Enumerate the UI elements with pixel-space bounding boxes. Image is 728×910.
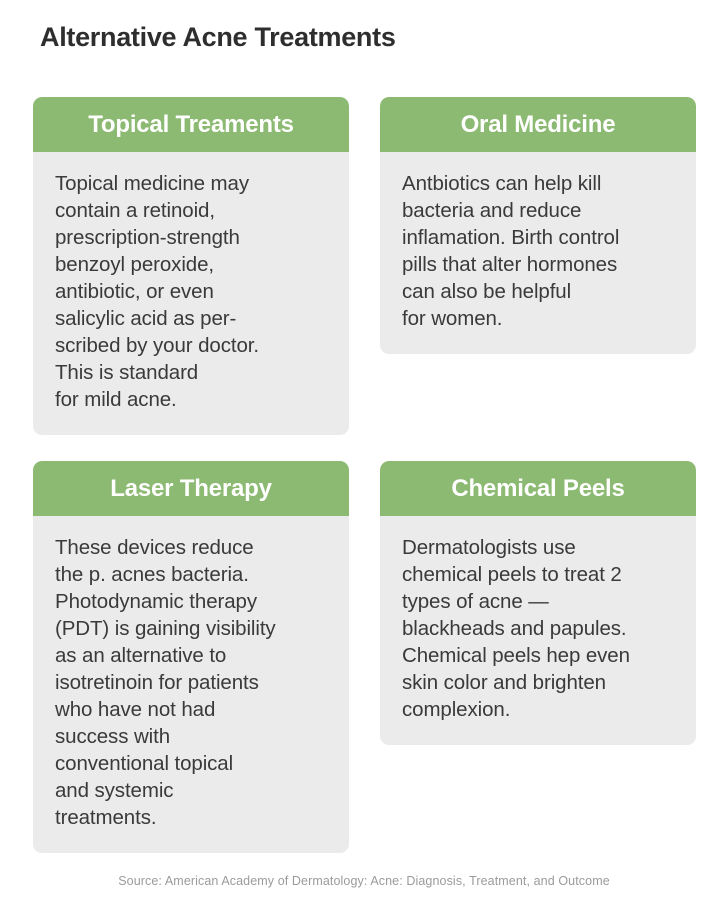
- treatment-card-chemical-peels: Chemical Peels Dermatologists use chemic…: [380, 461, 696, 745]
- infographic-root: Alternative Acne Treatments Topical Trea…: [0, 0, 728, 910]
- card-header-label: Topical Treaments: [88, 113, 294, 137]
- card-body-chemical-peels: Dermatologists use chemical peels to tre…: [380, 516, 696, 745]
- treatment-card-laser-therapy: Laser Therapy These devices reduce the p…: [33, 461, 349, 853]
- treatment-card-grid: Topical Treaments Topical medicine may c…: [33, 97, 696, 853]
- card-header-oral-medicine: Oral Medicine: [380, 97, 696, 152]
- source-attribution: Source: American Academy of Dermatology:…: [0, 874, 728, 888]
- treatment-card-oral-medicine: Oral Medicine Antbiotics can help kill b…: [380, 97, 696, 354]
- card-body-text: Topical medicine may contain a retinoid,…: [55, 170, 329, 413]
- card-header-topical-treatments: Topical Treaments: [33, 97, 349, 152]
- card-header-laser-therapy: Laser Therapy: [33, 461, 349, 516]
- card-header-label: Oral Medicine: [461, 113, 616, 137]
- card-body-text: These devices reduce the p. acnes bacter…: [55, 534, 329, 831]
- card-header-label: Chemical Peels: [451, 477, 624, 501]
- treatment-card-topical-treatments: Topical Treaments Topical medicine may c…: [33, 97, 349, 435]
- card-body-text: Antbiotics can help kill bacteria and re…: [402, 170, 676, 332]
- page-title: Alternative Acne Treatments: [40, 22, 396, 53]
- card-header-chemical-peels: Chemical Peels: [380, 461, 696, 516]
- card-body-topical-treatments: Topical medicine may contain a retinoid,…: [33, 152, 349, 435]
- card-body-oral-medicine: Antbiotics can help kill bacteria and re…: [380, 152, 696, 354]
- card-body-text: Dermatologists use chemical peels to tre…: [402, 534, 676, 723]
- card-header-label: Laser Therapy: [110, 477, 271, 501]
- card-body-laser-therapy: These devices reduce the p. acnes bacter…: [33, 516, 349, 853]
